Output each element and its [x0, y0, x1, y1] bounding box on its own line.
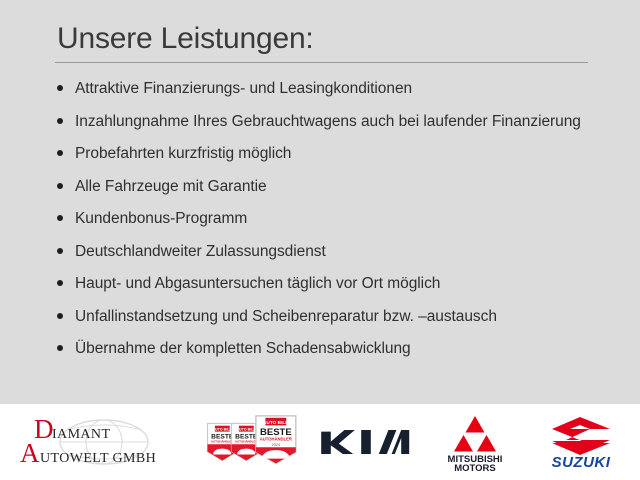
suzuki-label: SUZUKI — [552, 454, 611, 471]
brand-logo-kia — [318, 411, 414, 473]
bullet-icon — [57, 118, 63, 124]
three-diamond-emblem — [454, 416, 496, 452]
dealer-logo: D IAMANT A UTOWELT GMBH — [18, 412, 186, 472]
services-slide: Unsere Leistungen: Attraktive Finanzieru… — [0, 0, 640, 480]
list-item: Übernahme der kompletten Schadensabwickl… — [57, 337, 588, 361]
list-item-label: Kundenbonus-Programm — [75, 210, 247, 227]
services-list: Attraktive Finanzierungs- und Leasingkon… — [55, 77, 588, 361]
bullet-icon — [57, 183, 63, 189]
bullet-icon — [57, 280, 63, 286]
list-item-label: Unfallinstandsetzung und Scheibenreparat… — [75, 308, 497, 325]
list-item-label: Übernahme der kompletten Schadensabwickl… — [75, 340, 411, 357]
badge-year: 2024 — [272, 443, 280, 447]
brand-logo-suzuki: SUZUKI — [536, 411, 626, 473]
bullet-icon — [57, 345, 63, 351]
bullet-icon — [57, 248, 63, 254]
bullet-icon — [57, 85, 63, 91]
list-item: Haupt- und Abgasuntersuchen täglich vor … — [57, 272, 588, 296]
badge-subtitle: AUTOHÄNDLER — [260, 437, 292, 442]
list-item: Kundenbonus-Programm — [57, 207, 588, 231]
mitsubishi-label-line2: MOTORS — [454, 463, 496, 472]
bullet-icon — [57, 313, 63, 319]
list-item-label: Inzahlungnahme Ihres Gebrauchtwagens auc… — [75, 113, 581, 130]
suzuki-icon: SUZUKI — [536, 413, 626, 471]
award-badge-group: AUTO BILD BESTE AUTOHÄNDLER AUTO BILD BE… — [204, 413, 300, 471]
badge-publisher: AUTO BILD — [263, 420, 289, 426]
logo-initial-a: A — [20, 438, 40, 468]
list-item: Deutschlandweiter Zulassungsdienst — [57, 240, 588, 264]
list-item: Alle Fahrzeuge mit Garantie — [57, 175, 588, 199]
bullet-icon — [57, 215, 63, 221]
page-title: Unsere Leistungen: — [55, 22, 588, 62]
svg-text:AUTOHÄNDLER: AUTOHÄNDLER — [235, 440, 259, 444]
list-item-label: Alle Fahrzeuge mit Garantie — [75, 178, 267, 195]
logo-bar: D IAMANT A UTOWELT GMBH AUTO BILD BESTE … — [0, 404, 640, 480]
svg-text:AUTO BILD: AUTO BILD — [236, 428, 256, 432]
award-badge-large: AUTO BILD BESTE AUTOHÄNDLER 2024 — [256, 416, 296, 464]
logo-word-diamant: IAMANT — [52, 427, 110, 442]
bullet-icon — [57, 150, 63, 156]
kia-icon — [318, 422, 414, 462]
brand-logo-mitsubishi: MITSUBISHI MOTORS — [432, 411, 518, 473]
list-item-label: Deutschlandweiter Zulassungsdienst — [75, 243, 326, 260]
list-item: Attraktive Finanzierungs- und Leasingkon… — [57, 77, 588, 101]
svg-text:AUTO BILD: AUTO BILD — [212, 428, 232, 432]
list-item: Inzahlungnahme Ihres Gebrauchtwagens auc… — [57, 110, 588, 134]
list-item: Unfallinstandsetzung und Scheibenreparat… — [57, 305, 588, 329]
dealer-wordmark: D IAMANT A UTOWELT GMBH — [18, 412, 186, 472]
slide-content: Unsere Leistungen: Attraktive Finanzieru… — [0, 0, 640, 404]
logo-word-autowelt: UTOWELT GMBH — [40, 451, 156, 466]
title-divider — [55, 62, 588, 63]
list-item-label: Haupt- und Abgasuntersuchen täglich vor … — [75, 275, 440, 292]
list-item-label: Probefahrten kurzfristig möglich — [75, 145, 291, 162]
list-item: Probefahrten kurzfristig möglich — [57, 142, 588, 166]
list-item-label: Attraktive Finanzierungs- und Leasingkon… — [75, 80, 412, 97]
mitsubishi-icon: MITSUBISHI MOTORS — [432, 412, 518, 472]
award-badges: AUTO BILD BESTE AUTOHÄNDLER AUTO BILD BE… — [204, 413, 300, 471]
suzuki-s-emblem — [552, 417, 610, 455]
